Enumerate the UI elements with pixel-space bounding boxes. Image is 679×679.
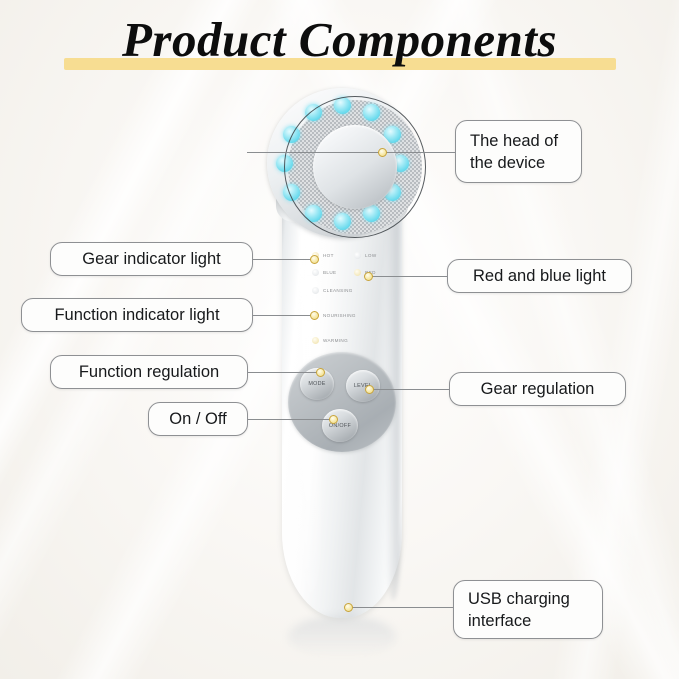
- on-off-button[interactable]: ON/OFF: [322, 409, 358, 442]
- leader-line-head-of-device: [247, 152, 459, 153]
- leader-line-on-off: [248, 419, 333, 420]
- indicator-dot-cleansing: [312, 287, 319, 294]
- leader-line-gear-regulation: [372, 389, 450, 390]
- marker-gear-regulation: [365, 385, 374, 394]
- indicator-label-low: LOW: [365, 252, 377, 259]
- callout-gear-regulation-label: Gear regulation: [481, 379, 595, 400]
- callout-red-and-blue-light[interactable]: Red and blue light: [447, 259, 632, 293]
- leader-line-function-regulation: [248, 372, 320, 373]
- indicator-dot-red: [354, 269, 361, 276]
- leader-line-red-blue-light: [371, 276, 450, 277]
- callout-usb-charging-line2: interface: [468, 610, 531, 632]
- indicator-label-blue: BLUE: [323, 269, 336, 276]
- callout-on-off[interactable]: On / Off: [148, 402, 248, 436]
- callout-usb-charging-interface[interactable]: USB charging interface: [453, 580, 603, 639]
- indicator-dot-blue: [312, 269, 319, 276]
- callout-function-indicator-light-label: Function indicator light: [54, 305, 219, 326]
- indicator-dot-warming: [312, 337, 319, 344]
- page-title: Product Components: [0, 8, 679, 74]
- callout-function-indicator-light[interactable]: Function indicator light: [21, 298, 253, 332]
- device-head-rim: [284, 96, 426, 238]
- callout-gear-indicator-light-label: Gear indicator light: [82, 249, 221, 270]
- callout-function-regulation[interactable]: Function regulation: [50, 355, 248, 389]
- device-reflection: [288, 616, 396, 658]
- leader-line-usb-charging: [350, 607, 454, 608]
- control-panel: MODE LEVEL ON/OFF: [288, 352, 396, 452]
- marker-usb-charging: [344, 603, 353, 612]
- indicator-dot-low: [354, 252, 361, 259]
- callout-gear-indicator-light[interactable]: Gear indicator light: [50, 242, 253, 276]
- product-components-diagram: Product Components HOTLOWBLUEREDCLEANSIN…: [0, 0, 679, 679]
- callout-gear-regulation[interactable]: Gear regulation: [449, 372, 626, 406]
- callout-red-and-blue-light-label: Red and blue light: [473, 266, 606, 287]
- indicator-label-nourishing: NOURISHING: [323, 312, 356, 319]
- device-head: [267, 88, 417, 238]
- callout-head-of-device-line2: the device: [470, 152, 545, 174]
- marker-on-off: [329, 415, 338, 424]
- indicator-label-warming: WARMING: [323, 337, 348, 344]
- marker-function-indicator: [310, 311, 319, 320]
- indicator-label-cleansing: CLEANSING: [323, 287, 353, 294]
- callout-head-of-device[interactable]: The head of the device: [455, 120, 582, 183]
- callout-on-off-label: On / Off: [169, 409, 226, 430]
- device-illustration: HOTLOWBLUEREDCLEANSINGNOURISHINGWARMING …: [254, 84, 430, 624]
- callout-usb-charging-line1: USB charging: [468, 588, 570, 610]
- title-text: Product Components: [122, 8, 557, 72]
- marker-function-regulation: [316, 368, 325, 377]
- callout-function-regulation-label: Function regulation: [79, 362, 219, 383]
- marker-gear-indicator: [310, 255, 319, 264]
- leader-line-gear-indicator: [250, 259, 314, 260]
- callout-head-of-device-line1: The head of: [470, 130, 558, 152]
- indicator-label-hot: HOT: [323, 252, 334, 259]
- marker-head-of-device: [378, 148, 387, 157]
- level-button[interactable]: LEVEL: [346, 370, 380, 402]
- marker-red-blue-light: [364, 272, 373, 281]
- leader-line-function-indicator: [250, 315, 314, 316]
- mode-button-label: MODE: [308, 381, 325, 387]
